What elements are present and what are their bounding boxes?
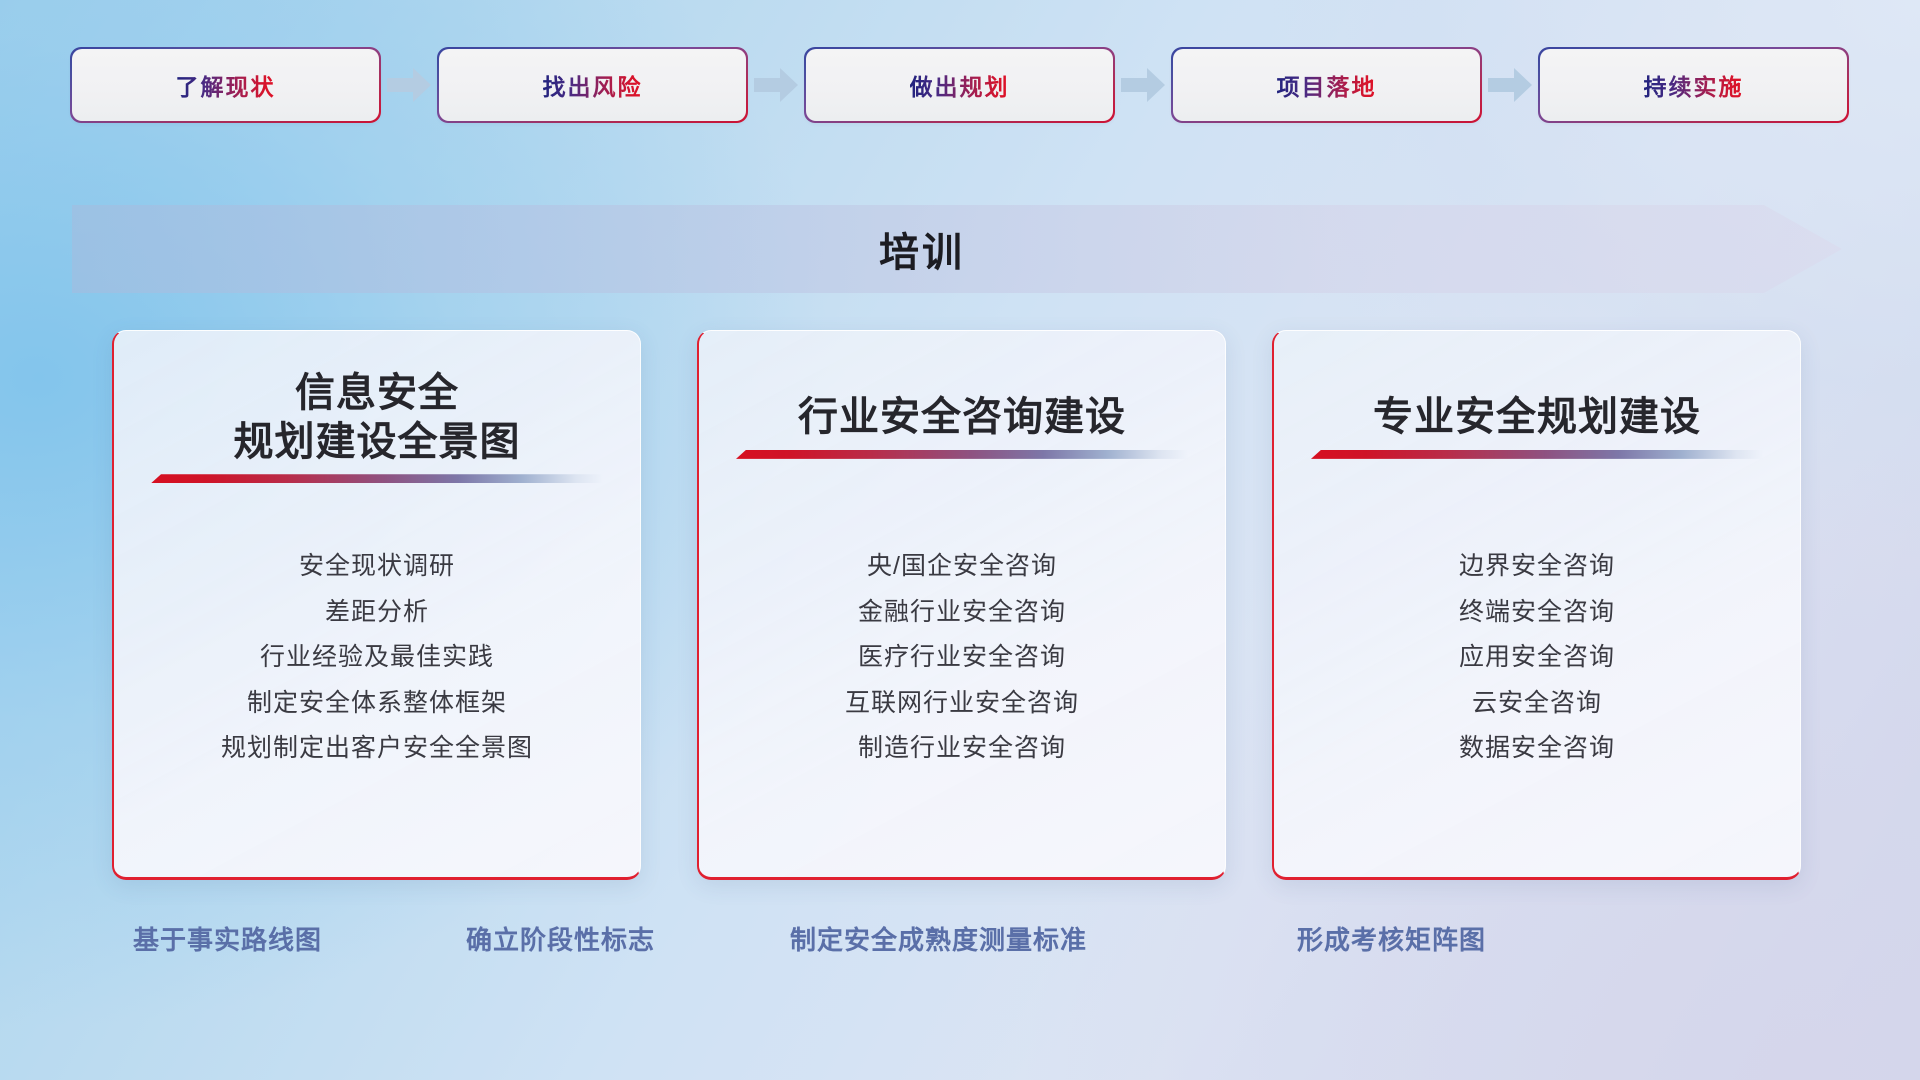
footer-label-roadmap: 基于事实路线图 — [133, 920, 322, 957]
process-step-row: 了解现状 找出风险 做出规划 项目落地 — [0, 0, 1920, 170]
step-label-4: 持续实施 — [1644, 68, 1744, 102]
list-item: 互联网行业安全咨询 — [845, 690, 1079, 718]
right-arrow-icon — [1480, 49, 1540, 121]
right-arrow-icon — [1113, 49, 1173, 121]
step-box-1[interactable]: 找出风险 — [439, 49, 746, 121]
card-item-list: 边界安全咨询 终端安全咨询 应用安全咨询 云安全咨询 数据安全咨询 — [1274, 521, 1800, 763]
card-divider — [1311, 450, 1763, 459]
list-item: 边界安全咨询 — [1459, 553, 1615, 581]
step-label-2: 做出规划 — [910, 68, 1010, 102]
footer-label-maturity-standard: 制定安全成熟度测量标准 — [790, 920, 1087, 957]
list-item: 金融行业安全咨询 — [858, 599, 1066, 627]
banner-title: 培训 — [72, 205, 1842, 293]
footer-label-milestones: 确立阶段性标志 — [466, 920, 655, 957]
card-header: 专业安全规划建设 — [1274, 331, 1800, 521]
list-item: 差距分析 — [325, 599, 429, 627]
list-item: 行业经验及最佳实践 — [260, 644, 494, 672]
step-box-2[interactable]: 做出规划 — [806, 49, 1113, 121]
list-item: 制定安全体系整体框架 — [247, 690, 507, 718]
card-title: 行业安全咨询建设 — [798, 393, 1126, 442]
step-box-0[interactable]: 了解现状 — [72, 49, 379, 121]
list-item: 制造行业安全咨询 — [858, 735, 1066, 763]
right-arrow-icon — [746, 49, 806, 121]
right-arrow-icon — [379, 49, 439, 121]
step-box-3[interactable]: 项目落地 — [1173, 49, 1480, 121]
training-banner: 培训 — [72, 205, 1842, 293]
card-professional-security-planning[interactable]: 专业安全规划建设 边界安全咨询 终端安全咨询 应用安全咨询 云安全咨询 数据安全… — [1272, 330, 1801, 880]
card-item-list: 央/国企安全咨询 金融行业安全咨询 医疗行业安全咨询 互联网行业安全咨询 制造行… — [699, 521, 1225, 763]
card-header: 行业安全咨询建设 — [699, 331, 1225, 521]
step-label-0: 了解现状 — [176, 68, 276, 102]
list-item: 终端安全咨询 — [1459, 599, 1615, 627]
card-industry-security-consulting[interactable]: 行业安全咨询建设 央/国企安全咨询 金融行业安全咨询 医疗行业安全咨询 互联网行… — [697, 330, 1226, 880]
card-divider — [151, 474, 603, 483]
footer-label-assessment-matrix: 形成考核矩阵图 — [1297, 920, 1486, 957]
list-item: 央/国企安全咨询 — [867, 553, 1057, 581]
step-group-0: 了解现状 — [72, 49, 379, 121]
card-title: 专业安全规划建设 — [1373, 393, 1701, 442]
footer-label-row: 基于事实路线图 确立阶段性标志 制定安全成熟度测量标准 形成考核矩阵图 — [0, 920, 1920, 990]
step-group-4: 持续实施 — [1540, 49, 1847, 121]
step-label-1: 找出风险 — [543, 68, 643, 102]
list-item: 应用安全咨询 — [1459, 644, 1615, 672]
list-item: 安全现状调研 — [299, 553, 455, 581]
list-item: 规划制定出客户安全全景图 — [221, 735, 533, 763]
card-divider — [736, 450, 1188, 459]
step-box-4[interactable]: 持续实施 — [1540, 49, 1847, 121]
card-information-security-blueprint[interactable]: 信息安全 规划建设全景图 安全现状调研 差距分析 行业经验及最佳实践 制定安全体… — [112, 330, 641, 880]
step-label-3: 项目落地 — [1277, 68, 1377, 102]
step-group-2: 做出规划 — [806, 49, 1113, 121]
step-group-1: 找出风险 — [439, 49, 746, 121]
list-item: 医疗行业安全咨询 — [858, 644, 1066, 672]
list-item: 数据安全咨询 — [1459, 735, 1615, 763]
card-item-list: 安全现状调研 差距分析 行业经验及最佳实践 制定安全体系整体框架 规划制定出客户… — [114, 521, 640, 763]
step-group-3: 项目落地 — [1173, 49, 1480, 121]
card-title: 信息安全 规划建设全景图 — [234, 369, 521, 467]
card-row: 信息安全 规划建设全景图 安全现状调研 差距分析 行业经验及最佳实践 制定安全体… — [0, 330, 1920, 900]
card-header: 信息安全 规划建设全景图 — [114, 331, 640, 521]
list-item: 云安全咨询 — [1472, 690, 1602, 718]
